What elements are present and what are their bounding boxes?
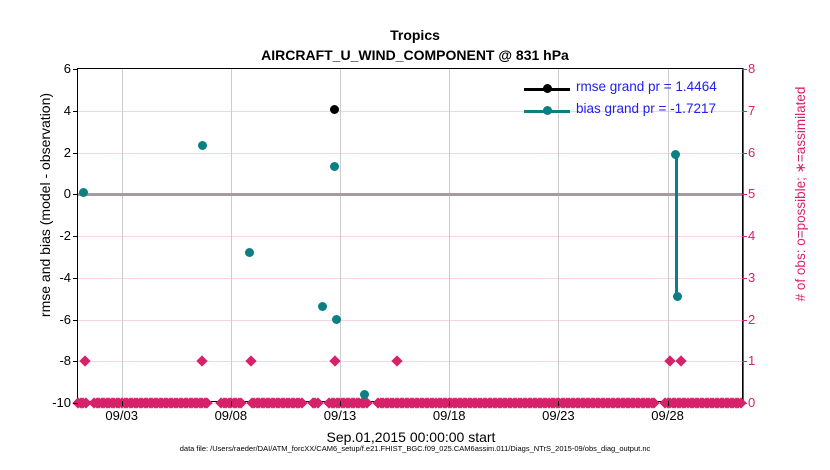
legend-label-rmse: rmse grand pr = 1.4464 <box>576 79 717 94</box>
bias-point <box>245 248 254 257</box>
gridline-vertical <box>449 69 450 401</box>
x-axis-tick <box>668 401 669 406</box>
x-axis-tick <box>340 401 341 406</box>
y-axis-left-tick <box>73 236 78 237</box>
gridline-horizontal <box>78 278 742 279</box>
x-axis-tick-label: 09/03 <box>92 408 152 423</box>
y-axis-right-tick-label: 0 <box>748 396 788 409</box>
x-axis-tick <box>449 401 450 406</box>
gridline-horizontal <box>78 236 742 237</box>
y-axis-right-tick-label: 6 <box>748 146 788 159</box>
bias-point <box>360 390 369 399</box>
x-axis-title: Sep.01,2015 00:00:00 start <box>78 429 744 445</box>
y-axis-left-tick <box>73 278 78 279</box>
y-axis-right-tick-label: 7 <box>748 104 788 117</box>
x-axis-tick <box>122 401 123 406</box>
title-line-2: AIRCRAFT_U_WIND_COMPONENT @ 831 hPa <box>0 45 830 66</box>
y-axis-left-tick <box>73 69 78 70</box>
rmse-point <box>330 105 339 114</box>
y-axis-left-tick <box>73 153 78 154</box>
y-axis-right-tick-label: 3 <box>748 271 788 284</box>
x-axis-tick <box>558 401 559 406</box>
bias-line-segment <box>675 155 678 297</box>
x-axis-tick-label: 09/28 <box>638 408 698 423</box>
x-axis-tick-label: 09/08 <box>201 408 261 423</box>
y-axis-right-tick <box>742 403 747 404</box>
legend-label-bias: bias grand pr = -1.7217 <box>576 101 716 116</box>
y-axis-right-line <box>743 68 744 403</box>
bias-point <box>673 292 682 301</box>
gridline-horizontal <box>78 361 742 362</box>
obs-marker-assimilated <box>675 356 686 367</box>
title-line-1: Tropics <box>0 26 830 45</box>
legend-item-bias[interactable]: bias grand pr = -1.7217 <box>524 100 739 122</box>
zero-reference-line <box>78 193 742 196</box>
bias-point <box>79 188 88 197</box>
y-axis-right-tick-label: 8 <box>748 62 788 75</box>
x-axis-tick-label: 09/23 <box>528 408 588 423</box>
bias-point <box>671 150 680 159</box>
y-axis-right-tick-label: 2 <box>748 313 788 326</box>
chart-legend: rmse grand pr = 1.4464bias grand pr = -1… <box>524 78 739 126</box>
chart-title: Tropics AIRCRAFT_U_WIND_COMPONENT @ 831 … <box>0 26 830 66</box>
y-axis-right-tick-label: 4 <box>748 229 788 242</box>
data-file-note: data file: /Users/raeder/DAI/ATM_forcXX/… <box>0 444 830 453</box>
obs-marker-assimilated <box>391 356 402 367</box>
obs-marker-assimilated <box>197 356 208 367</box>
x-axis-tick-label: 09/13 <box>310 408 370 423</box>
y-axis-left-tick <box>73 194 78 195</box>
y-axis-right-tick-label: 1 <box>748 354 788 367</box>
gridline-horizontal <box>78 320 742 321</box>
legend-marker-bias <box>543 106 552 115</box>
x-axis-tick <box>231 401 232 406</box>
legend-item-rmse[interactable]: rmse grand pr = 1.4464 <box>524 78 739 100</box>
bias-point <box>318 302 327 311</box>
y-axis-left-tick <box>73 403 78 404</box>
gridline-vertical <box>340 69 341 401</box>
y-axis-left-tick <box>73 361 78 362</box>
bias-point <box>330 162 339 171</box>
gridline-horizontal <box>78 153 742 154</box>
obs-marker-assimilated <box>79 356 90 367</box>
y-axis-left-tick <box>73 320 78 321</box>
obs-marker-assimilated <box>664 356 675 367</box>
gridline-vertical <box>122 69 123 401</box>
obs-marker-assimilated <box>329 356 340 367</box>
gridline-vertical <box>231 69 232 401</box>
legend-marker-rmse <box>543 84 552 93</box>
y-axis-right-tick-label: 5 <box>748 187 788 200</box>
y-axis-left-title: rmse and bias (model - observation) <box>37 0 53 415</box>
y-axis-right-title: # of obs: o=possible; ∗=assimilated <box>793 0 809 404</box>
y-axis-left-tick <box>73 111 78 112</box>
x-axis-tick-label: 09/18 <box>419 408 479 423</box>
obs-marker-assimilated <box>245 356 256 367</box>
figure-canvas: Tropics AIRCRAFT_U_WIND_COMPONENT @ 831 … <box>0 0 830 470</box>
bias-point <box>198 141 207 150</box>
